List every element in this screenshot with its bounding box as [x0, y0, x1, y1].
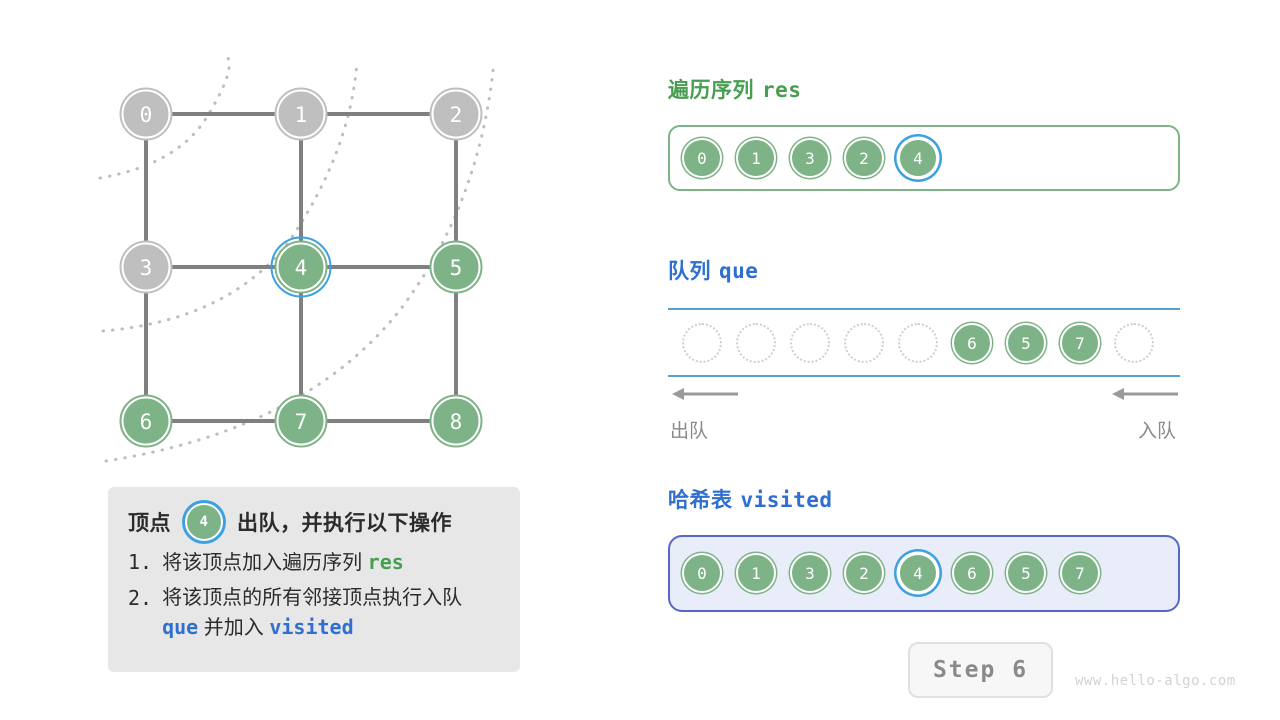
step-badge: Step 6 [908, 642, 1053, 698]
caption-step-number: 1. [128, 548, 152, 577]
node-label: 6 [140, 410, 153, 434]
visited-title-cn: 哈希表 [668, 489, 733, 512]
graph-node-0[interactable]: 0 [121, 89, 172, 140]
graph-node-5[interactable]: 5 [431, 242, 482, 293]
graph-node-2[interactable]: 2 [431, 89, 482, 140]
caption-step-text: 将该顶点加入遍历序列 res [162, 548, 500, 577]
node-label: 1 [295, 103, 308, 127]
queue-slot-6: 5 [1006, 323, 1046, 363]
caption-plain-text: 将该顶点加入遍历序列 [162, 552, 368, 574]
graph-node-8[interactable]: 8 [431, 396, 482, 447]
enqueue-arrow-icon [1110, 386, 1180, 404]
caption-plain-text: 将该顶点的所有邻接顶点执行入队 [162, 587, 462, 609]
queue-rail-bottom [668, 375, 1180, 377]
visited-item-2: 3 [790, 553, 830, 593]
node-label: 3 [140, 256, 153, 280]
queue-slots: 657 [682, 323, 1154, 363]
visited-item-0: 0 [682, 553, 722, 593]
queue-slot-4 [898, 323, 938, 363]
node-label: 0 [140, 103, 153, 127]
caption-plain-text: 并加入 [198, 617, 269, 639]
visited-item-5: 6 [952, 553, 992, 593]
graph-node-3[interactable]: 3 [121, 242, 172, 293]
node-label: 7 [295, 410, 308, 434]
state-panel: 遍历序列res 01324 队列que 657 出队 入队 哈希表visited… [660, 0, 1280, 720]
res-title-cn: 遍历序列 [668, 79, 754, 102]
res-item-3: 2 [844, 138, 884, 178]
node-label: 5 [450, 256, 463, 280]
visited-item-6: 5 [1006, 553, 1046, 593]
queue-section-title: 队列que [668, 255, 758, 285]
watermark: www.hello-algo.com [1075, 673, 1236, 689]
visited-items: 01324657 [682, 553, 1100, 593]
node-label: 4 [295, 256, 308, 280]
queue-slot-5: 6 [952, 323, 992, 363]
visited-title-var: visited [741, 488, 833, 512]
dequeue-label: 出队 [670, 416, 708, 443]
code-token-res: res [368, 550, 404, 574]
queue-slot-2 [790, 323, 830, 363]
caption-headline: 顶点 4 出队，并执行以下操作 [128, 503, 500, 541]
caption-step-list: 1.将该顶点加入遍历序列 res2.将该顶点的所有邻接顶点执行入队 que 并加… [128, 548, 500, 642]
queue-title-cn: 队列 [668, 260, 711, 283]
visited-item-1: 1 [736, 553, 776, 593]
visited-item-7: 7 [1060, 553, 1100, 593]
res-item-2: 3 [790, 138, 830, 178]
caption-prefix: 顶点 [128, 507, 171, 537]
caption-vertex-chip: 4 [185, 503, 223, 541]
caption-step-item: 2.将该顶点的所有邻接顶点执行入队 que 并加入 visited [128, 584, 500, 642]
caption-box: 顶点 4 出队，并执行以下操作 1.将该顶点加入遍历序列 res2.将该顶点的所… [108, 487, 520, 672]
visited-section-title: 哈希表visited [668, 484, 833, 514]
caption-step-text: 将该顶点的所有邻接顶点执行入队 que 并加入 visited [162, 584, 500, 642]
queue-slot-8 [1114, 323, 1154, 363]
res-item-4: 4 [898, 138, 938, 178]
caption-suffix: 出队，并执行以下操作 [237, 507, 452, 537]
queue-rail-top [668, 308, 1180, 310]
res-section-title: 遍历序列res [668, 74, 801, 104]
queue-slot-7: 7 [1060, 323, 1100, 363]
code-token-var: visited [269, 615, 353, 639]
visited-item-3: 2 [844, 553, 884, 593]
queue-slot-1 [736, 323, 776, 363]
visited-item-4: 4 [898, 553, 938, 593]
queue-title-var: que [719, 259, 758, 283]
res-item-0: 0 [682, 138, 722, 178]
queue-slot-0 [682, 323, 722, 363]
enqueue-label: 入队 [1138, 416, 1176, 443]
graph-node-7[interactable]: 7 [276, 396, 327, 447]
code-token-var: que [162, 615, 198, 639]
node-label: 8 [450, 410, 463, 434]
res-title-var: res [762, 78, 801, 102]
res-item-1: 1 [736, 138, 776, 178]
caption-step-number: 2. [128, 584, 152, 642]
graph-node-1[interactable]: 1 [276, 89, 327, 140]
graph-svg: 012345678 [0, 0, 600, 500]
queue-slot-3 [844, 323, 884, 363]
node-label: 2 [450, 103, 463, 127]
dequeue-arrow-icon [670, 386, 740, 404]
diagram-stage: 012345678 顶点 4 出队，并执行以下操作 1.将该顶点加入遍历序列 r… [0, 0, 1280, 720]
graph-node-6[interactable]: 6 [121, 396, 172, 447]
graph-node-4[interactable]: 4 [272, 238, 331, 297]
caption-step-item: 1.将该顶点加入遍历序列 res [128, 548, 500, 577]
res-items: 01324 [682, 138, 938, 178]
